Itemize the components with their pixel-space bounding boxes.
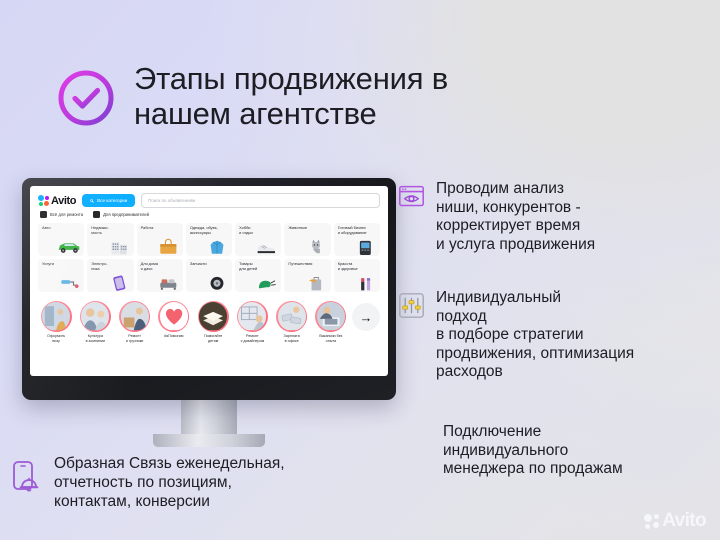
- avito-watermark: Avito: [644, 510, 706, 532]
- feature-analysis-text: Проводим анализ ниши, конкурентов - корр…: [436, 180, 595, 254]
- suitcase-art: [303, 273, 329, 291]
- category-card-parts[interactable]: Запчасти: [186, 259, 232, 292]
- avito-header: Avito Все категории Поиск по объявлениям: [30, 186, 388, 211]
- story-item[interactable]: Ремонт и грузчики: [117, 301, 153, 344]
- category-label: Красота и здоровье: [338, 262, 377, 272]
- category-card-kids[interactable]: Товары для детей: [235, 259, 281, 292]
- quick-link-repair[interactable]: Всё для ремонта: [40, 211, 83, 218]
- story-label: Оформить визу: [38, 334, 74, 344]
- story-thumb-office: [81, 302, 109, 330]
- category-label: Готовый бизнес и оборудование: [338, 226, 377, 236]
- building-art: [106, 237, 132, 255]
- tire-art: [204, 273, 230, 291]
- category-card-realty[interactable]: Недвижи- мость: [87, 223, 133, 256]
- sneaker-art: [253, 237, 279, 255]
- story-ring: [80, 301, 111, 332]
- avito-quick-links: Всё для ремонта Для предпринимателей: [30, 211, 388, 223]
- category-label: Услуги: [42, 262, 81, 267]
- category-card-home[interactable]: Для дома и дачи: [137, 259, 183, 292]
- category-card-auto[interactable]: Авто: [38, 223, 84, 256]
- quick-link-business[interactable]: Для предпринимателей: [93, 211, 149, 218]
- story-label: Ремонт и грузчики: [117, 334, 153, 344]
- category-row: Услуги Электро- ника: [38, 259, 380, 292]
- quick-link-business-label: Для предпринимателей: [103, 212, 149, 217]
- browser-eye-icon: [398, 183, 425, 210]
- story-item[interactable]: Ремонт с дизайнером: [234, 301, 270, 344]
- story-ring: [41, 301, 72, 332]
- category-card-electronics[interactable]: Электро- ника: [87, 259, 133, 292]
- feature-manager-text: Подключение индивидуального менеджера по…: [443, 423, 623, 479]
- story-thumb-heart: [160, 302, 188, 330]
- phone-art: [106, 273, 132, 291]
- story-ring: [158, 301, 189, 332]
- category-label: Недвижи- мость: [91, 226, 130, 236]
- category-label: Животные: [288, 226, 327, 231]
- category-card-travel[interactable]: Путешествия: [284, 259, 330, 292]
- category-card-pets[interactable]: Животные: [284, 223, 330, 256]
- monitor-bezel: Avito Все категории Поиск по объявлениям: [22, 178, 396, 400]
- jacket-art: [204, 237, 230, 255]
- story-ring: [276, 301, 307, 332]
- category-row: Авто Недвижи- мость: [38, 223, 380, 256]
- story-item[interactable]: Зарплата в офисе: [274, 301, 310, 344]
- story-label: #яПомогаю: [156, 334, 192, 339]
- category-label: Авто: [42, 226, 81, 231]
- page-header: Этапы продвижения в нашем агентстве: [56, 62, 448, 131]
- monitor-stand-foot: [153, 434, 265, 447]
- search-icon: [90, 199, 94, 203]
- story-thumb-plans: [238, 302, 266, 330]
- avito-logo-dots-icon: [38, 195, 49, 206]
- category-label: Хобби и отдых: [239, 226, 278, 236]
- story-ring: [315, 301, 346, 332]
- all-categories-button[interactable]: Все категории: [82, 194, 135, 207]
- story-item[interactable]: #яПомогаю: [156, 301, 192, 339]
- feature-manager: Подключение индивидуального менеджера по…: [443, 423, 623, 479]
- category-label: Для дома и дачи: [141, 262, 180, 272]
- category-card-work[interactable]: Работа: [137, 223, 183, 256]
- cat-art: [303, 237, 329, 255]
- category-card-business[interactable]: Готовый бизнес и оборудование: [334, 223, 380, 256]
- story-ring: [237, 301, 268, 332]
- avito-logo-text: Avito: [51, 195, 76, 207]
- category-grid: Авто Недвижи- мость: [30, 223, 388, 292]
- category-card-hobby[interactable]: Хобби и отдых: [235, 223, 281, 256]
- bag-art: [155, 237, 181, 255]
- story-ring: [119, 301, 150, 332]
- desktop-monitor: Avito Все категории Поиск по объявлениям: [22, 178, 396, 447]
- category-label: Электро- ника: [91, 262, 130, 272]
- tools-icon: [40, 211, 47, 218]
- phone-bell-icon: [10, 459, 44, 493]
- category-label: Одежда, обувь, аксессуары: [190, 226, 229, 236]
- page-title: Этапы продвижения в нашем агентстве: [134, 62, 448, 131]
- category-label: Товары для детей: [239, 262, 278, 272]
- story-label: Зарплата в офисе: [274, 334, 310, 344]
- feature-analysis: Проводим анализ ниши, конкурентов - корр…: [398, 180, 595, 254]
- feature-approach-text: Индивидуальный подход в подборе стратеги…: [436, 289, 634, 382]
- story-item[interactable]: Оформить визу: [38, 301, 74, 344]
- sofa-art: [155, 273, 181, 291]
- story-ring: [198, 301, 229, 332]
- sliders-icon: [398, 292, 425, 319]
- lipstick-art: [352, 273, 378, 291]
- story-item[interactable]: Помогайте детям: [195, 301, 231, 344]
- category-card-clothes[interactable]: Одежда, обувь, аксессуары: [186, 223, 232, 256]
- story-thumb-movers: [121, 302, 149, 330]
- avito-watermark-text: Avito: [662, 510, 706, 532]
- category-label: Работа: [141, 226, 180, 231]
- story-label: Вакансии без опыта: [313, 334, 349, 344]
- check-circle-icon: [56, 68, 116, 128]
- search-input[interactable]: Поиск по объявлениям: [141, 193, 380, 208]
- all-categories-label: Все категории: [97, 198, 127, 203]
- roller-art: [56, 273, 82, 291]
- story-label: Помогайте детям: [195, 334, 231, 344]
- stories-row: Оформить визу Культ: [30, 295, 388, 348]
- monitor-stand-neck: [181, 400, 237, 434]
- briefcase-icon: [93, 211, 100, 218]
- avito-logo[interactable]: Avito: [38, 195, 76, 207]
- feature-approach: Индивидуальный подход в подборе стратеги…: [398, 289, 634, 382]
- stories-next-button[interactable]: →: [352, 303, 380, 331]
- avito-watermark-dots-icon: [644, 514, 659, 529]
- story-label: Ремонт с дизайнером: [234, 334, 270, 344]
- feature-feedback-text: Образная Связь еженедельная, отчетность …: [54, 455, 285, 512]
- feature-feedback: Образная Связь еженедельная, отчетность …: [10, 455, 285, 512]
- toy-art: [253, 273, 279, 291]
- story-item[interactable]: Культура в компании: [77, 301, 113, 344]
- story-thumb-laptop: [317, 302, 345, 330]
- terminal-art: [352, 237, 378, 255]
- category-card-beauty[interactable]: Красота и здоровье: [334, 259, 380, 292]
- monitor-screen: Avito Все категории Поиск по объявлениям: [30, 186, 388, 376]
- story-thumb-visa: [42, 302, 70, 330]
- category-label: Путешествия: [288, 262, 327, 267]
- story-item[interactable]: Вакансии без опыта: [313, 301, 349, 344]
- car-art: [56, 237, 82, 255]
- story-label: Культура в компании: [77, 334, 113, 344]
- story-thumb-books: [199, 302, 227, 330]
- category-label: Запчасти: [190, 262, 229, 267]
- category-card-services[interactable]: Услуги: [38, 259, 84, 292]
- quick-link-repair-label: Всё для ремонта: [50, 212, 83, 217]
- story-thumb-money: [278, 302, 306, 330]
